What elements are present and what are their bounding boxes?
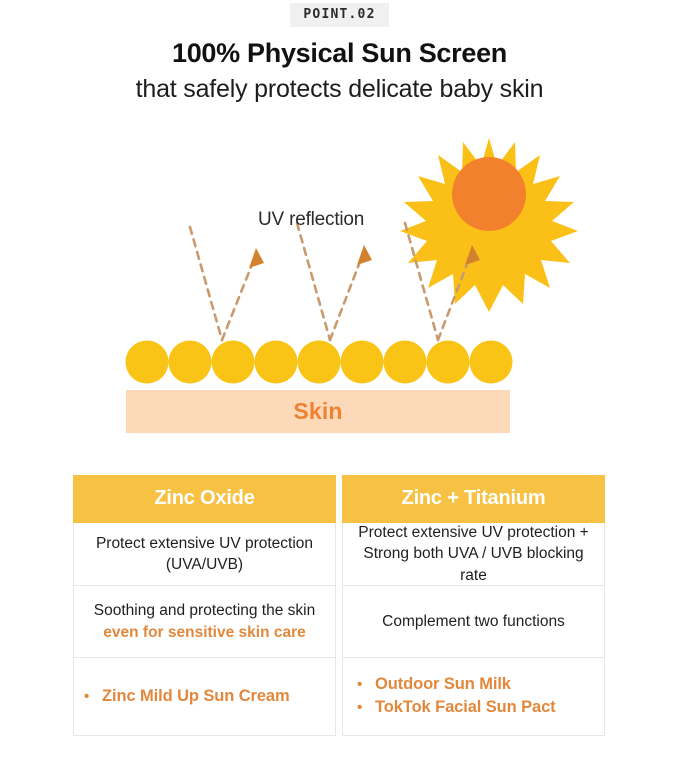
skin-label: Skin xyxy=(293,398,342,425)
particle xyxy=(126,341,169,384)
bullet-dot-icon: • xyxy=(84,686,102,708)
table-column-zinc-titanium: Zinc + Titanium Protect extensive UV pro… xyxy=(342,475,605,736)
particle xyxy=(212,341,255,384)
skin-band: Skin xyxy=(126,390,510,433)
cell-highlight-text: even for sensitive skin care xyxy=(103,624,305,641)
particle xyxy=(341,341,384,384)
column-header-zinc-oxide: Zinc Oxide xyxy=(73,475,336,523)
list-item-label: TokTok Facial Sun Pact xyxy=(375,697,556,721)
uv-arrow-2-outgoing xyxy=(330,259,361,340)
particle xyxy=(470,341,513,384)
particle-layer xyxy=(126,341,513,384)
table-cell: Complement two functions xyxy=(342,586,605,658)
particle xyxy=(255,341,298,384)
particle xyxy=(384,341,427,384)
point-badge: POINT.02 xyxy=(290,3,388,27)
uv-arrowhead-1 xyxy=(249,248,264,268)
table-cell: Protect extensive UV protection (UVA/UVB… xyxy=(73,523,336,586)
uv-arrow-1-outgoing xyxy=(222,262,253,340)
cell-lead-text: Soothing and protecting the skin xyxy=(94,602,315,619)
table-cell: • Zinc Mild Up Sun Cream xyxy=(73,658,336,736)
table-column-zinc-oxide: Zinc Oxide Protect extensive UV protecti… xyxy=(73,475,336,736)
page-root: POINT.02 100% Physical Sun Screen that s… xyxy=(0,0,679,763)
column-header-zinc-titanium: Zinc + Titanium xyxy=(342,475,605,523)
page-title: 100% Physical Sun Screen xyxy=(0,38,679,69)
uv-arrowhead-2 xyxy=(357,245,372,265)
list-item: • Outdoor Sun Milk xyxy=(357,673,604,697)
bullet-list: • Zinc Mild Up Sun Cream xyxy=(74,685,335,709)
particle xyxy=(427,341,470,384)
comparison-table: Zinc Oxide Protect extensive UV protecti… xyxy=(73,475,605,736)
table-cell: Soothing and protecting the skin even fo… xyxy=(73,586,336,658)
table-cell: Protect extensive UV protection + Strong… xyxy=(342,523,605,586)
uv-reflection-label: UV reflection xyxy=(258,209,364,231)
uv-arrow-2-incoming xyxy=(297,223,330,340)
particle xyxy=(298,341,341,384)
list-item-label: Outdoor Sun Milk xyxy=(375,673,511,697)
bullet-list: • Outdoor Sun Milk • TokTok Facial Sun P… xyxy=(343,673,604,721)
page-subtitle: that safely protects delicate baby skin xyxy=(0,75,679,104)
badge-row: POINT.02 xyxy=(0,3,679,27)
sun-core-icon xyxy=(452,157,526,231)
list-item-label: Zinc Mild Up Sun Cream xyxy=(102,685,290,709)
particle xyxy=(169,341,212,384)
list-item: • TokTok Facial Sun Pact xyxy=(357,697,604,721)
uv-arrow-1-incoming xyxy=(190,227,222,340)
bullet-dot-icon: • xyxy=(357,674,375,696)
bullet-dot-icon: • xyxy=(357,698,375,720)
list-item: • Zinc Mild Up Sun Cream xyxy=(84,685,335,709)
table-cell: • Outdoor Sun Milk • TokTok Facial Sun P… xyxy=(342,658,605,736)
